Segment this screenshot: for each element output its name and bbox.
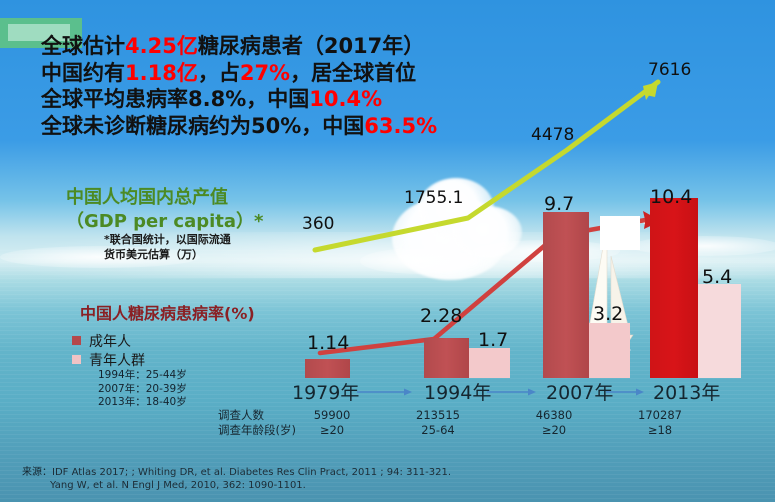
source-line-1: 来源：IDF Atlas 2017; ; Whiting DR, et al. … [22,466,451,479]
survey-label-count: 调查人数 [218,408,264,423]
survey-count-2007: 46380 [524,408,584,423]
source-footer: 来源：IDF Atlas 2017; ; Whiting DR, et al. … [22,466,451,492]
survey-count-1979: 59900 [302,408,362,423]
survey-age-1994: 25-64 [408,423,468,438]
slide-canvas: 全球估计4.25亿糖尿病患者（2017年） 中国约有1.18亿，占27%，居全球… [0,0,775,502]
survey-count-1994: 213515 [408,408,468,423]
survey-age-1979: ≥20 [302,423,362,438]
source-label: 来源： [22,467,52,478]
survey-count-2013: 170287 [630,408,690,423]
survey-label-age: 调查年龄段(岁) [218,423,296,438]
survey-age-2007: ≥20 [524,423,584,438]
survey-age-2013: ≥18 [630,423,690,438]
source-citation-1: IDF Atlas 2017; ; Whiting DR, et al. Dia… [52,467,451,478]
source-citation-2: Yang W, et al. N Engl J Med, 2010, 362: … [50,479,451,492]
